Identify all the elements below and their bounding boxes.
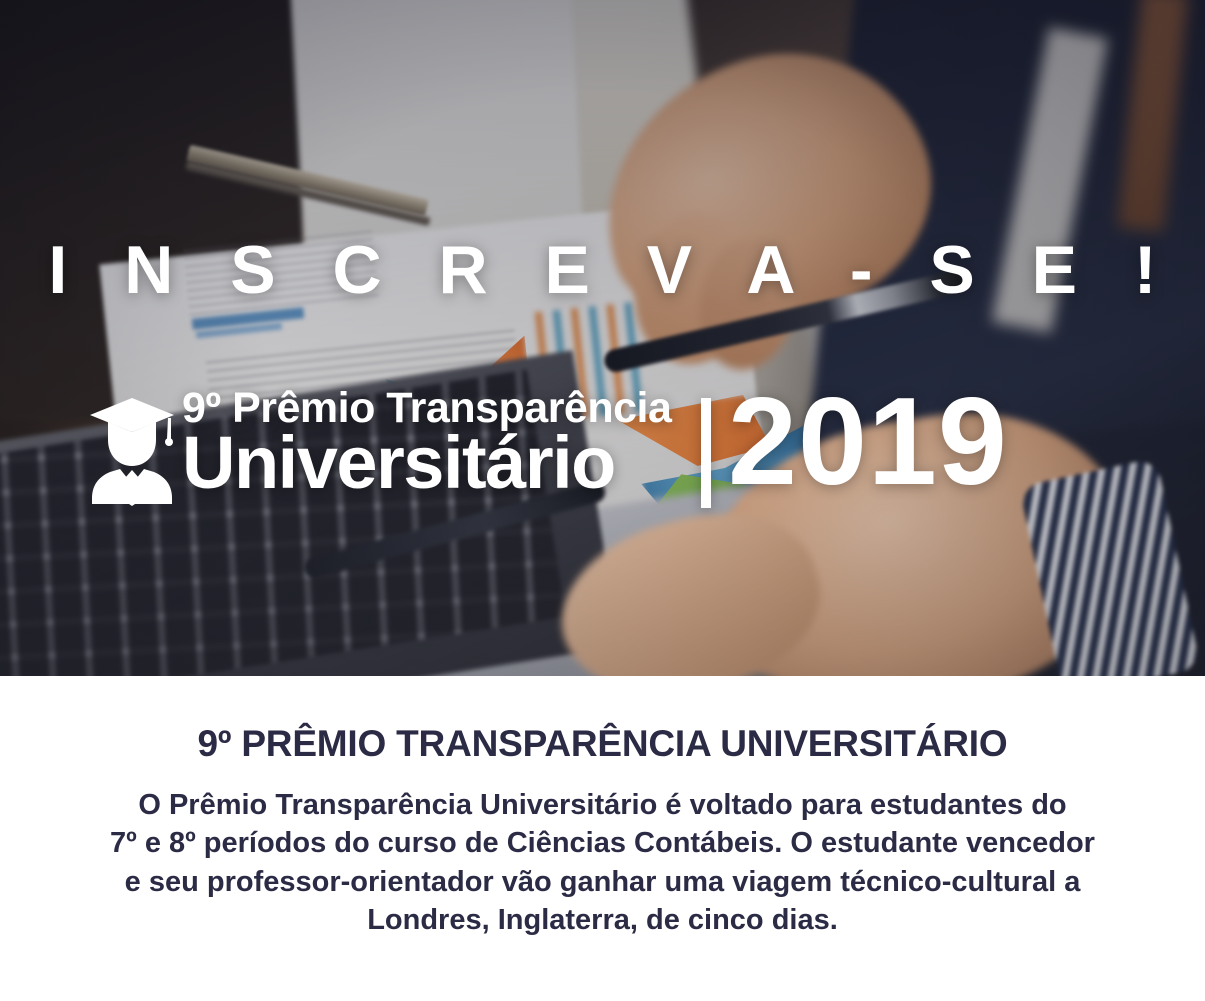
graduation-cap-student-icon — [88, 394, 176, 506]
event-year: 2019 — [728, 380, 1008, 504]
promo-page: I N S C R E V A - S E ! — [0, 0, 1205, 1001]
description-line: Londres, Inglaterra, de cinco dias. — [18, 901, 1187, 940]
description-line: 7º e 8º períodos do curso de Ciências Co… — [18, 824, 1187, 863]
event-logo-lockup: 9º Prêmio Transparência Universitário — [88, 388, 671, 506]
description-line: e seu professor-orientador vão ganhar um… — [18, 863, 1187, 902]
description-line: O Prêmio Transparência Universitário é v… — [18, 786, 1187, 825]
event-logo-text: 9º Prêmio Transparência Universitário — [182, 388, 671, 500]
hero-banner: I N S C R E V A - S E ! — [0, 0, 1205, 676]
event-logo-line-2: Universitário — [182, 427, 671, 500]
vertical-divider — [701, 398, 711, 508]
description-section: 9º PRÊMIO TRANSPARÊNCIA UNIVERSITÁRIO O … — [0, 676, 1205, 1001]
hero-content: I N S C R E V A - S E ! — [0, 0, 1205, 676]
description-paragraph: O Prêmio Transparência Universitário é v… — [0, 786, 1205, 940]
call-to-action-headline: I N S C R E V A - S E ! — [0, 236, 1205, 304]
page-title: 9º PRÊMIO TRANSPARÊNCIA UNIVERSITÁRIO — [0, 724, 1205, 765]
